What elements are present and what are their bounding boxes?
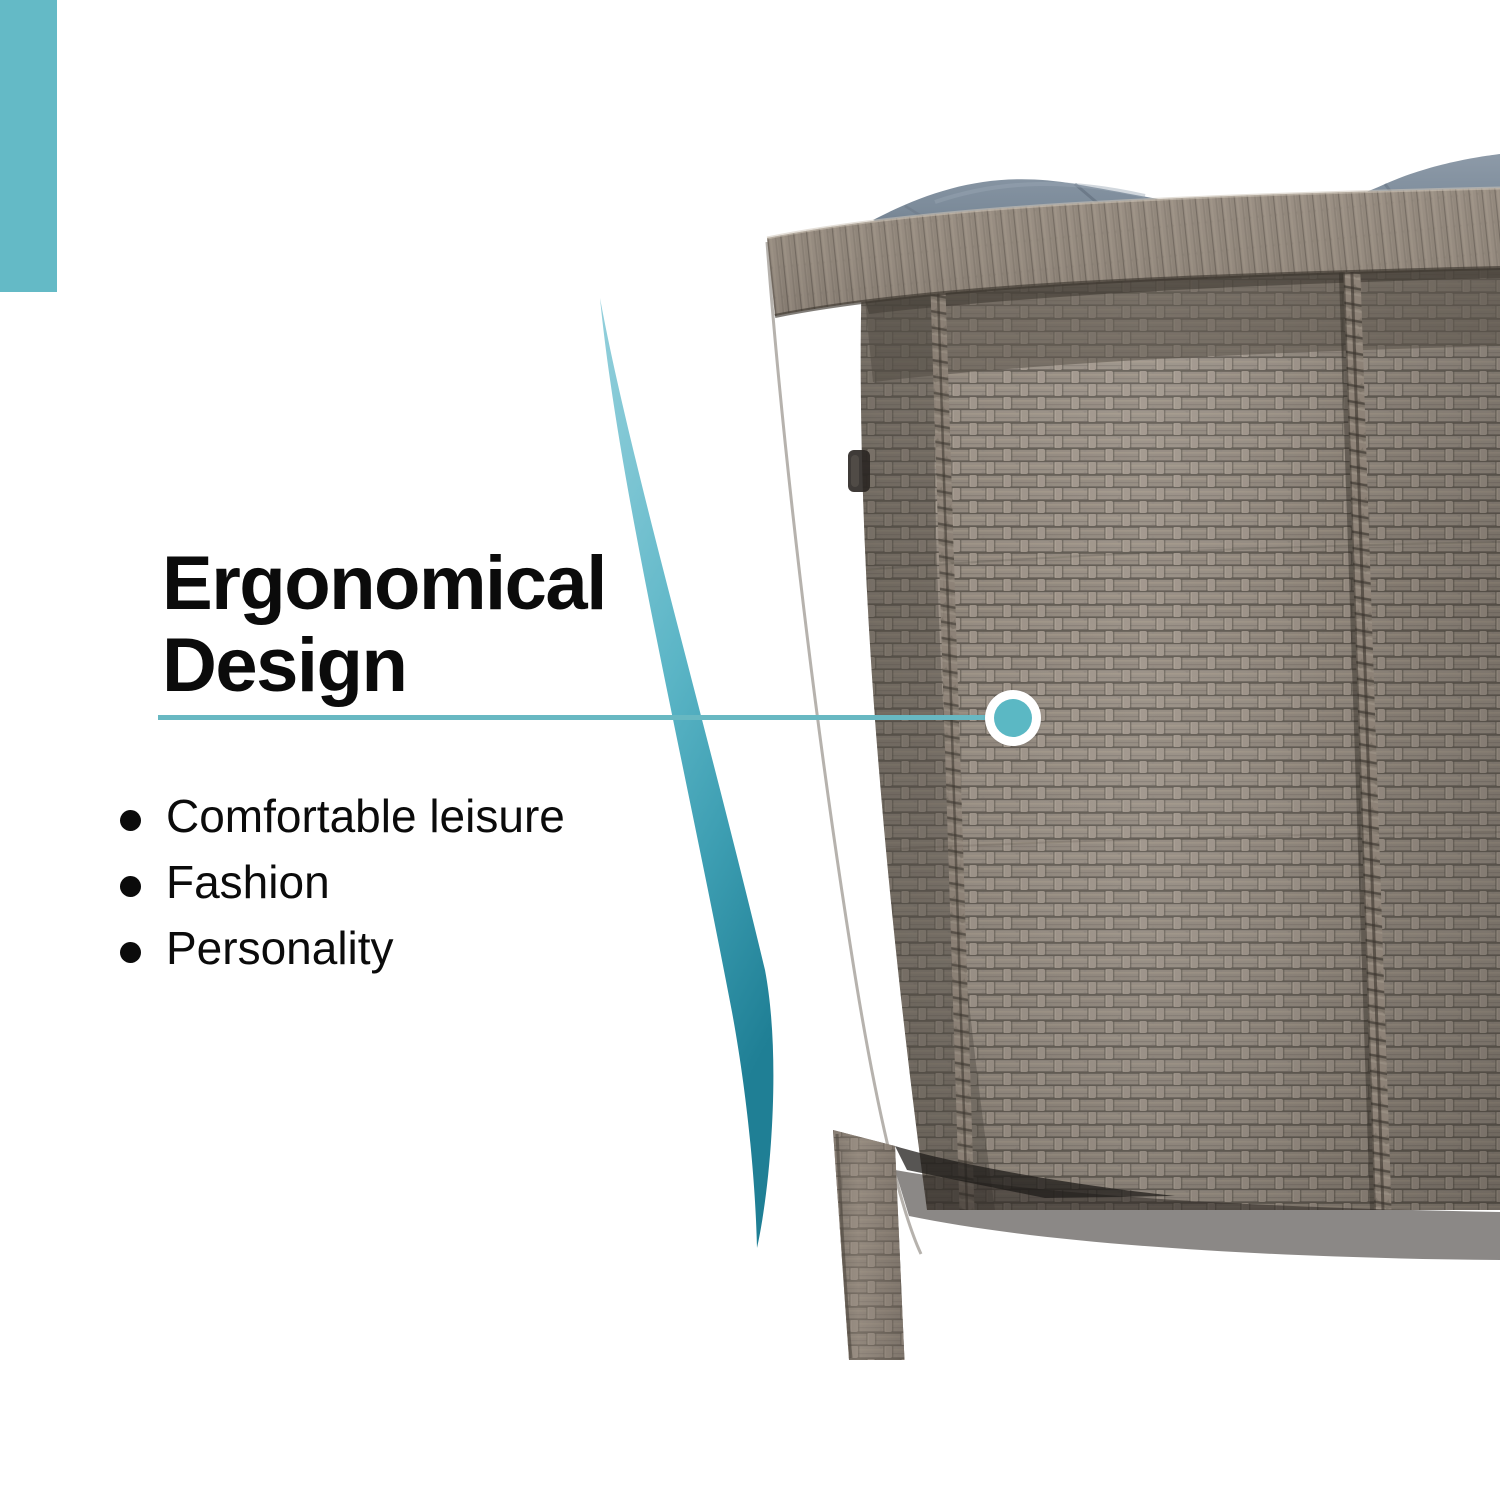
list-item-label: Personality bbox=[166, 922, 394, 974]
callout-dot[interactable] bbox=[985, 690, 1041, 746]
corner-accent-bar bbox=[0, 0, 57, 292]
bullet-icon bbox=[120, 876, 141, 897]
page-title-line-2: Design bbox=[162, 625, 722, 707]
page-title-line-1: Ergonomical bbox=[162, 543, 722, 625]
list-item-label: Comfortable leisure bbox=[166, 790, 565, 842]
sofa-leg bbox=[833, 1130, 905, 1360]
bullet-icon bbox=[120, 942, 141, 963]
bullet-icon bbox=[120, 810, 141, 831]
feature-list: Comfortable leisure Fashion Personality bbox=[112, 786, 752, 984]
callout-leader-line bbox=[158, 715, 1010, 720]
callout-dot-core bbox=[994, 699, 1032, 737]
product-photo-rattan-sofa bbox=[745, 150, 1500, 1360]
list-item: Fashion bbox=[112, 852, 752, 918]
promo-banner: Ergonomical Design Comfortable leisure F… bbox=[0, 0, 1500, 1500]
frame-hardware-fitting bbox=[848, 450, 870, 492]
list-item: Personality bbox=[112, 918, 752, 984]
page-title: Ergonomical Design bbox=[162, 543, 722, 707]
list-item: Comfortable leisure bbox=[112, 786, 752, 852]
list-item-label: Fashion bbox=[166, 856, 330, 908]
